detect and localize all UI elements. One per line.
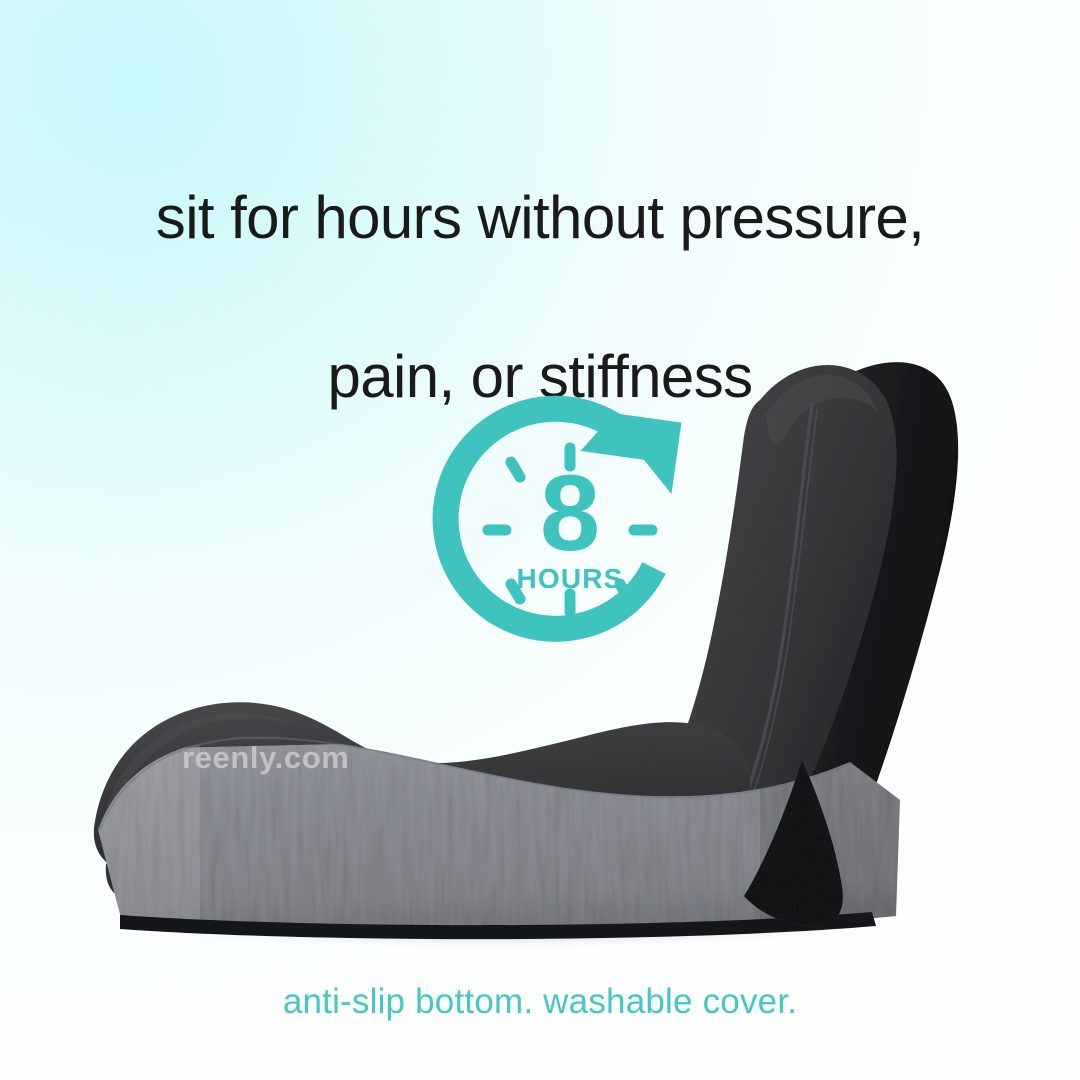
tick-10 <box>511 462 520 477</box>
badge-unit-label: HOURS <box>516 563 623 594</box>
marketing-image-canvas: sit for hours without pressure, pain, or… <box>0 0 1080 1080</box>
eight-hours-clock-icon: 8 HOURS <box>432 392 708 668</box>
badge-number: 8 <box>540 452 600 573</box>
headline-line-1: sit for hours without pressure, <box>0 178 1080 258</box>
footer-caption: anti-slip bottom. washable cover. <box>0 982 1080 1022</box>
